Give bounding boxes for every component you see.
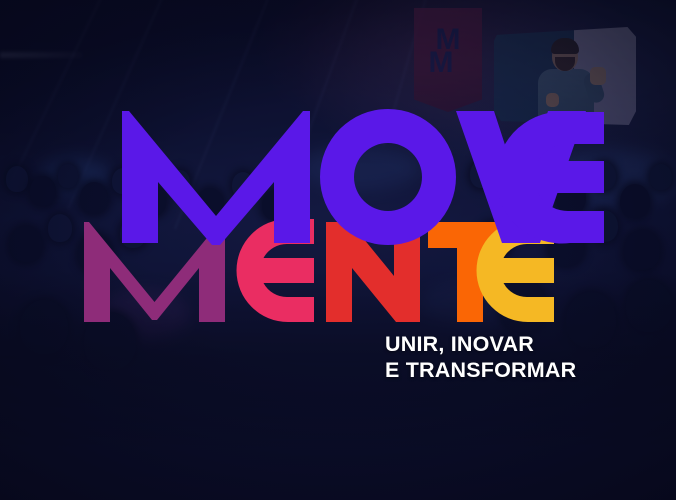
background-photo: M M — [0, 0, 676, 500]
tagline-line-1: UNIR, INOVAR — [385, 331, 576, 357]
hero-banner: M M — [0, 0, 676, 500]
brand-tagline: UNIR, INOVAR E TRANSFORMAR — [385, 331, 576, 383]
vignette-overlay — [0, 0, 676, 500]
tagline-line-2: E TRANSFORMAR — [385, 357, 576, 383]
